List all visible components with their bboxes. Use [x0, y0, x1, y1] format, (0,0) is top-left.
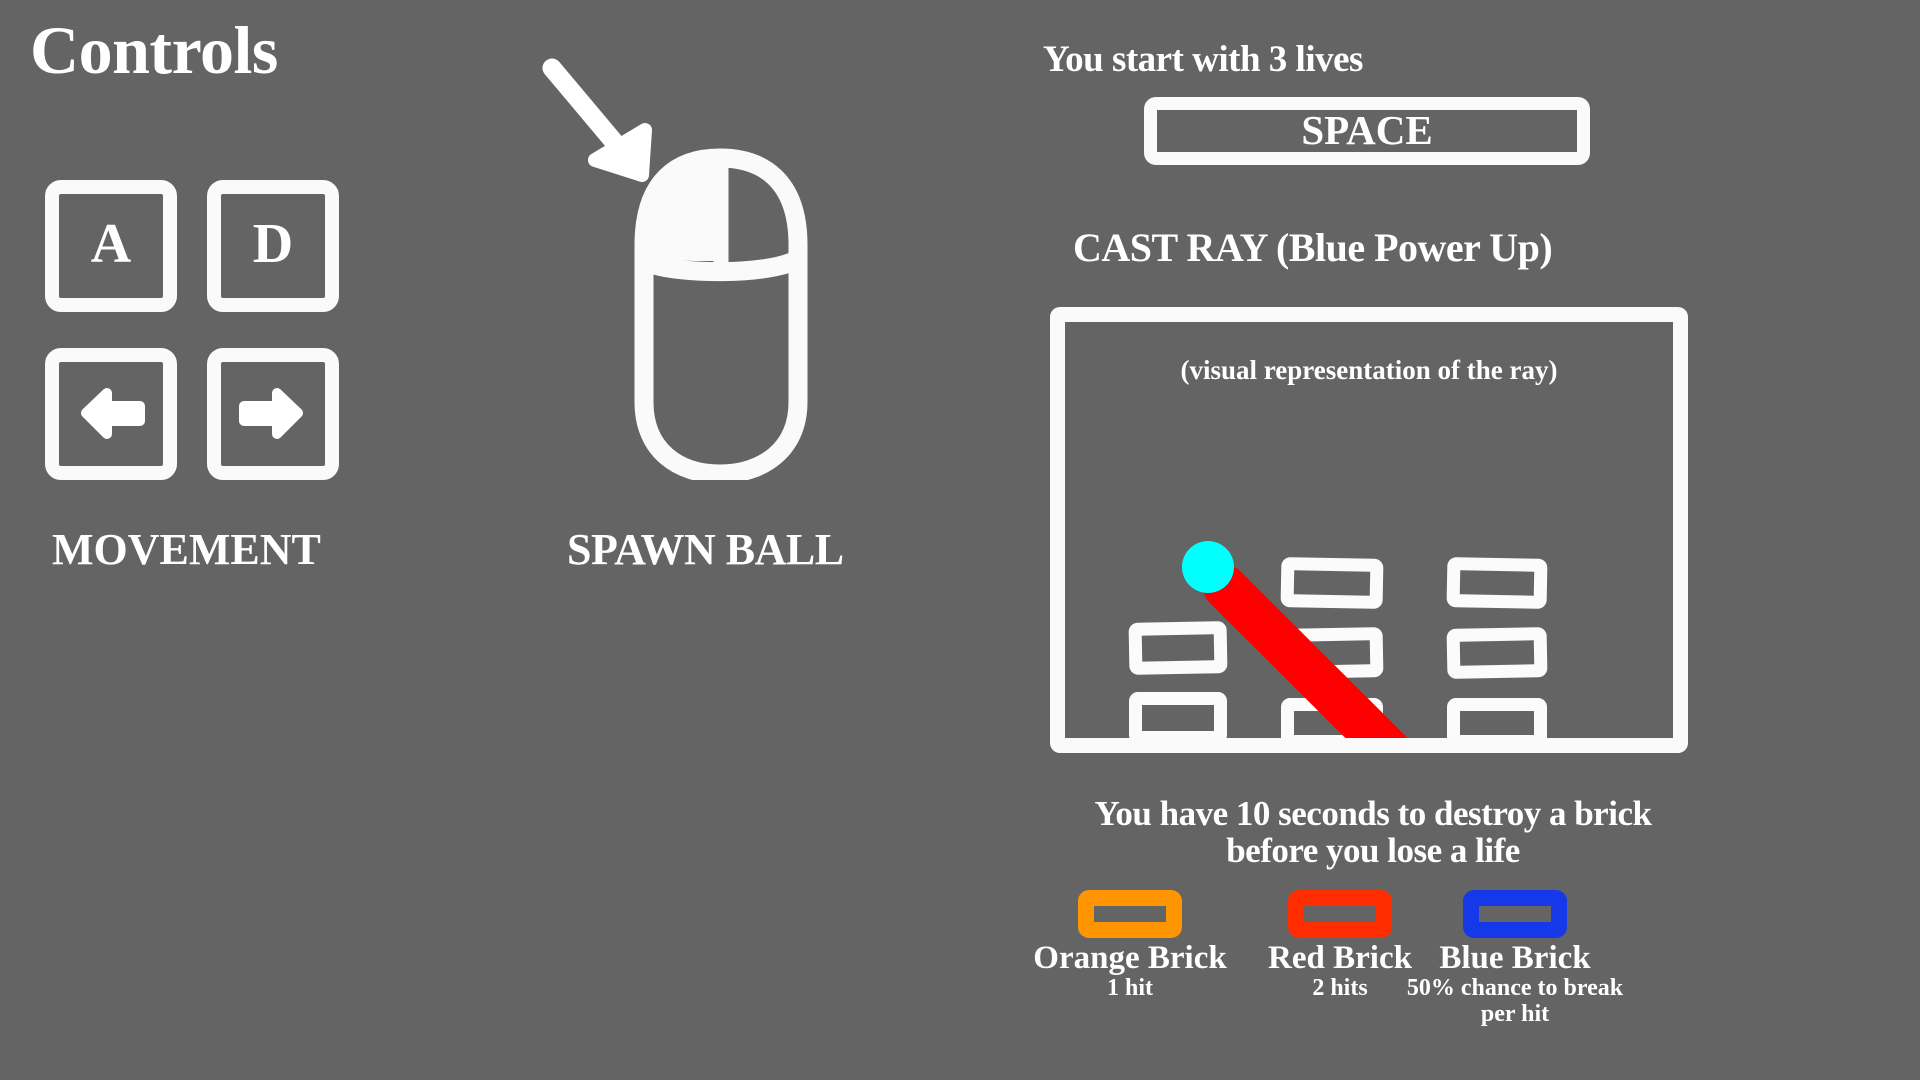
mouse-left-click-icon [520, 30, 850, 480]
cast-ray-title: CAST RAY (Blue Power Up) [1073, 224, 1552, 271]
key-arrow-left[interactable] [45, 348, 177, 480]
ray-beam [1065, 322, 1673, 738]
ray-visualization-panel: (visual representation of the ray) [1050, 307, 1688, 753]
key-space[interactable]: SPACE [1144, 97, 1590, 165]
legend-item-orange-brick: Orange Brick 1 hit [1015, 890, 1245, 1002]
mouse-illustration [520, 30, 850, 480]
blue-brick-label: Blue Brick [1400, 942, 1630, 976]
key-space-label: SPACE [1301, 110, 1432, 151]
ball [1182, 541, 1234, 593]
movement-caption: MOVEMENT [52, 524, 321, 575]
key-a-label: A [91, 216, 131, 272]
controls-help-screen: Controls A D MOVEMENT [0, 0, 1920, 1080]
page-title: Controls [30, 16, 278, 84]
key-a[interactable]: A [45, 180, 177, 312]
pointer-arrow-icon [552, 68, 645, 175]
blue-brick-swatch [1463, 890, 1567, 938]
movement-keypad: A D [45, 180, 365, 470]
arrow-left-icon [74, 387, 148, 441]
timer-warning-text: You have 10 seconds to destroy a brick b… [1068, 795, 1678, 869]
key-arrow-right[interactable] [207, 348, 339, 480]
blue-brick-detail: 50% chance to break per hit [1400, 976, 1630, 1028]
orange-brick-label: Orange Brick [1015, 942, 1245, 976]
lives-text: You start with 3 lives [1043, 38, 1363, 81]
arrow-right-icon [236, 387, 310, 441]
key-d[interactable]: D [207, 180, 339, 312]
legend-item-blue-brick: Blue Brick 50% chance to break per hit [1400, 890, 1630, 1027]
spawn-ball-caption: SPAWN BALL [567, 524, 844, 575]
key-d-label: D [253, 216, 293, 272]
red-brick-swatch [1288, 890, 1392, 938]
orange-brick-detail: 1 hit [1015, 976, 1245, 1002]
brick-legend: Orange Brick 1 hit Red Brick 2 hits Blue… [1035, 890, 1635, 1080]
orange-brick-swatch [1078, 890, 1182, 938]
